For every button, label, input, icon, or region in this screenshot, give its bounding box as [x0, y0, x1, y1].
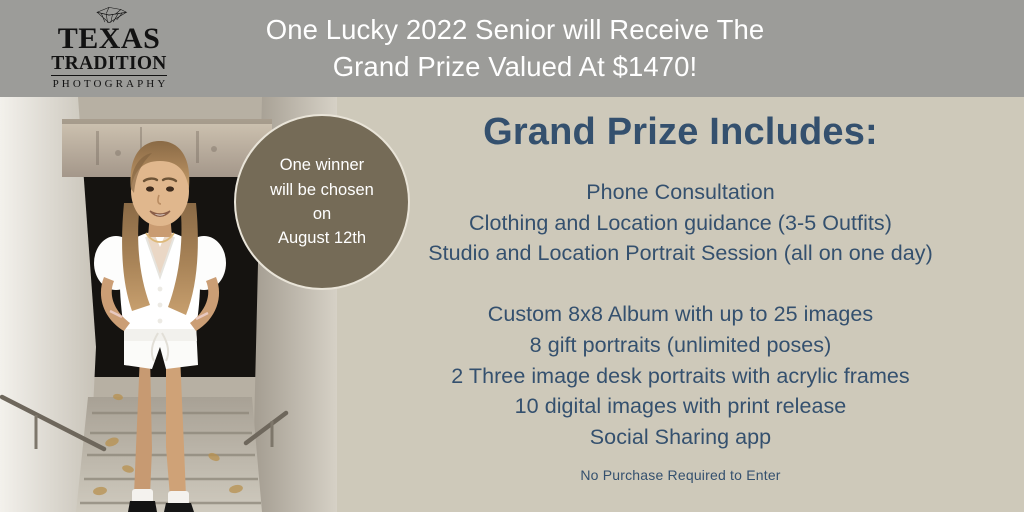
header-title-line-2: Grand Prize Valued At $1470!: [190, 49, 840, 86]
prize-item: Clothing and Location guidance (3-5 Outf…: [337, 208, 1024, 239]
brand-logo: TEXAS TRADITION PHOTOGRAPHY: [36, 6, 182, 90]
logo-text-photography: PHOTOGRAPHY: [50, 78, 169, 90]
badge-line-3: on: [313, 202, 331, 226]
prize-details-panel: Grand Prize Includes: Phone Consultation…: [337, 97, 1024, 512]
prize-item: Social Sharing app: [337, 422, 1024, 453]
prize-heading: Grand Prize Includes:: [337, 112, 1024, 154]
prize-group-session: Phone Consultation Clothing and Location…: [337, 177, 1024, 269]
promotional-poster: TEXAS TRADITION PHOTOGRAPHY One Lucky 20…: [0, 0, 1024, 512]
header-bar: TEXAS TRADITION PHOTOGRAPHY One Lucky 20…: [0, 0, 1024, 97]
logo-text-tradition: TRADITION: [51, 54, 166, 76]
prize-item: Custom 8x8 Album with up to 25 images: [337, 299, 1024, 330]
prize-group-products: Custom 8x8 Album with up to 25 images 8 …: [337, 299, 1024, 453]
header-title: One Lucky 2022 Senior will Receive The G…: [190, 12, 840, 85]
no-purchase-disclaimer: No Purchase Required to Enter: [337, 467, 1024, 483]
logo-text-texas: TEXAS: [58, 24, 161, 53]
prize-item: 8 gift portraits (unlimited poses): [337, 330, 1024, 361]
prize-item: Phone Consultation: [337, 177, 1024, 208]
prize-list: Phone Consultation Clothing and Location…: [337, 177, 1024, 453]
prize-item: 2 Three image desk portraits with acryli…: [337, 361, 1024, 392]
prize-item: Studio and Location Portrait Session (al…: [337, 238, 1024, 269]
header-title-line-1: One Lucky 2022 Senior will Receive The: [190, 12, 840, 49]
prize-item: 10 digital images with print release: [337, 391, 1024, 422]
